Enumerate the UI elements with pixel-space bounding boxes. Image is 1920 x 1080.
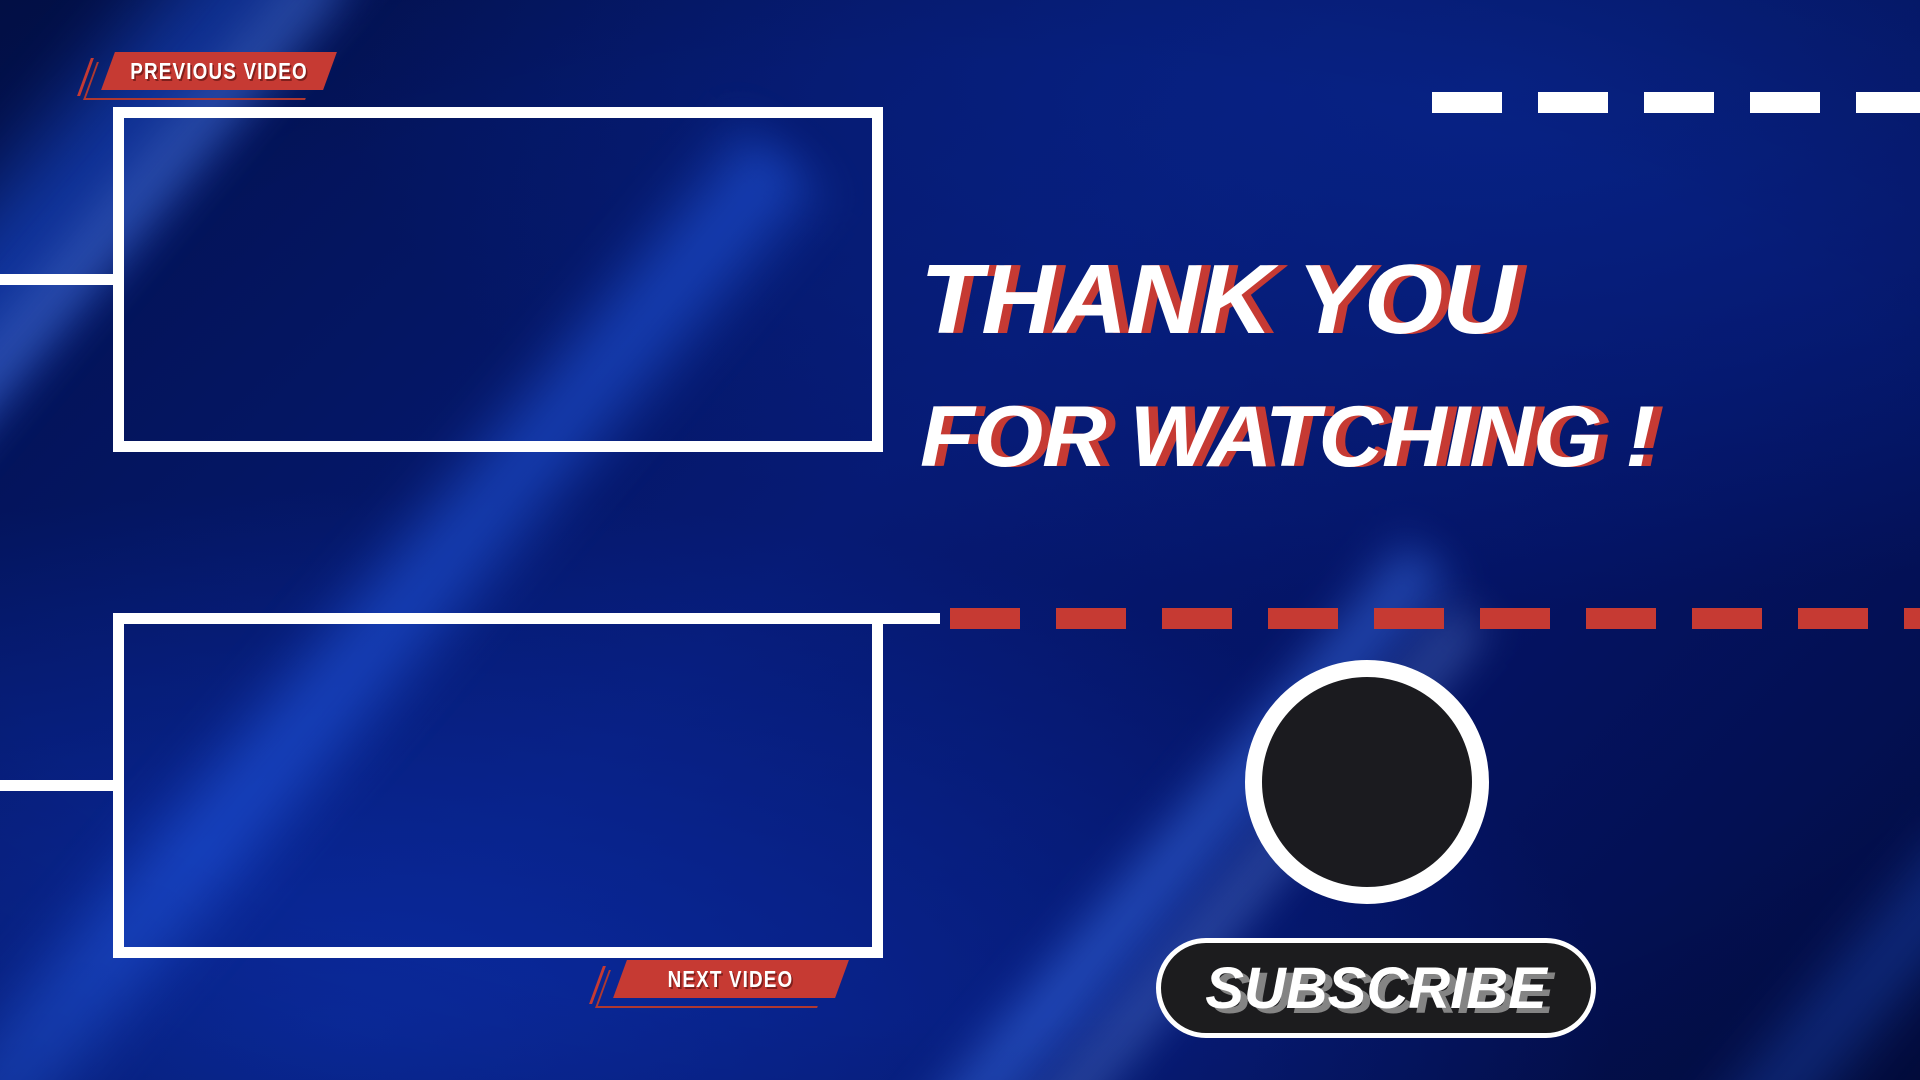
- dash-segment: [950, 608, 1020, 629]
- dash-segment: [1056, 608, 1126, 629]
- subscribe-button-label: SUBSCRIBE: [1205, 955, 1547, 1022]
- dash-segment: [1904, 608, 1920, 629]
- next-video-thumbnail-slot[interactable]: [113, 613, 883, 958]
- headline-line-2: FOR WATCHING !: [920, 394, 1898, 482]
- dash-segment: [1374, 608, 1444, 629]
- end-screen-canvas: PREVIOUS VIDEO NEXT VIDEO THANK YOU: [0, 0, 1920, 1080]
- top-dashed-rule: [1432, 92, 1920, 113]
- dash-segment: [1750, 92, 1820, 113]
- previous-video-connector-line: [0, 274, 113, 285]
- next-video-label[interactable]: NEXT VIDEO: [620, 960, 842, 998]
- dash-segment: [1538, 92, 1608, 113]
- subscribe-button[interactable]: SUBSCRIBE: [1156, 938, 1596, 1038]
- dash-segment: [1162, 608, 1232, 629]
- channel-avatar[interactable]: [1245, 660, 1489, 904]
- dash-segment: [1692, 608, 1762, 629]
- next-video-label-text: NEXT VIDEO: [668, 966, 794, 993]
- previous-video-label-text: PREVIOUS VIDEO: [130, 58, 307, 85]
- dash-segment: [1268, 608, 1338, 629]
- dash-segment: [1798, 608, 1868, 629]
- headline-line-1: THANK YOU: [920, 250, 1898, 350]
- ribbon-shape: NEXT VIDEO: [613, 960, 849, 998]
- dash-segment: [1856, 92, 1920, 113]
- dash-segment: [1644, 92, 1714, 113]
- dash-segment: [1480, 608, 1550, 629]
- previous-video-label[interactable]: PREVIOUS VIDEO: [108, 52, 330, 90]
- dash-segment: [1432, 92, 1502, 113]
- ribbon-shape: PREVIOUS VIDEO: [101, 52, 337, 90]
- dash-segment: [1586, 608, 1656, 629]
- previous-video-thumbnail-slot[interactable]: [113, 107, 883, 452]
- next-video-connector-line: [0, 780, 113, 791]
- middle-dashed-rule: [950, 608, 1920, 629]
- headline-block: THANK YOU FOR WATCHING !: [920, 250, 1860, 482]
